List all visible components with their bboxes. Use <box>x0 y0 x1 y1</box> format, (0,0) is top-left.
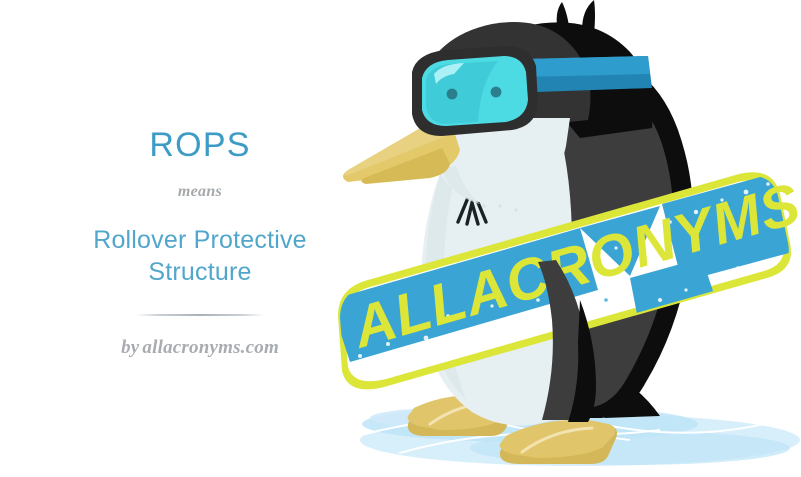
eye-right <box>491 87 502 98</box>
source-site-link[interactable]: allacronyms.com <box>142 337 279 358</box>
acronym-title: ROPS <box>149 128 250 162</box>
source-attribution: byallacronyms.com <box>121 338 279 357</box>
eye-left <box>447 89 458 100</box>
source-prefix: by <box>121 337 139 358</box>
acronym-card: ROPS means Rollover Protective Structure… <box>0 0 801 477</box>
penguin-mascot-illustration: ALLACRONYMS <box>330 0 801 477</box>
divider <box>136 314 264 316</box>
means-label: means <box>178 184 222 200</box>
definition-text: Rollover Protective Structure <box>50 224 350 288</box>
